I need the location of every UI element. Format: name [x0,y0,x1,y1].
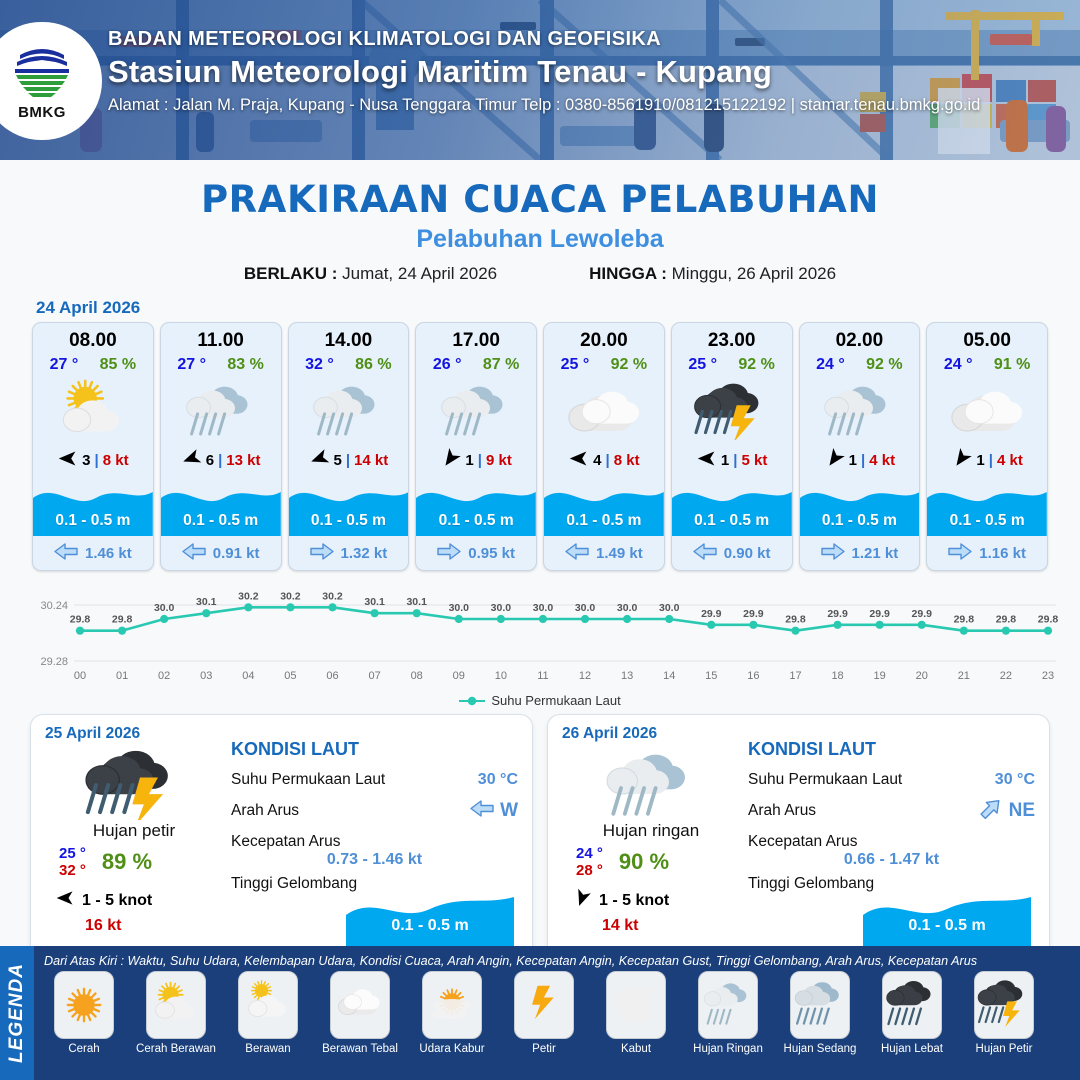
current-speed-value-wrap: 0.73 - 1.46 kt [231,851,518,869]
svg-text:29.8: 29.8 [70,614,91,626]
current-speed-row: Kecepatan Arus 0.66 - 1.47 kt [748,833,1035,869]
sst-row: Suhu Permukaan Laut 30 °C [231,771,518,789]
card-time: 23.00 [672,330,792,352]
daily-left: 26 April 2026 Hujan ringan 24 ° 28 ° 90 … [562,725,740,953]
valid-until-label: HINGGA : [589,264,667,283]
daily-weather-hujan-ringan-icon [562,745,740,819]
svg-text:29.9: 29.9 [912,608,933,620]
card-current-speed: 0.95 kt [468,545,515,562]
wind-direction-arrow-icon [57,448,78,473]
svg-text:30.2: 30.2 [322,590,343,602]
card-wind-separator: | [606,452,610,469]
card-humidity: 85 % [100,356,136,374]
legend-cerah-icon [54,971,114,1039]
sea-conditions-title: KONDISI LAUT [231,739,518,760]
current-direction-label: Arah Arus [231,802,299,820]
legend-item: Cerah [40,971,128,1055]
svg-text:05: 05 [284,670,296,682]
card-wind-separator: | [861,452,865,469]
current-speed-label-wrap: Kecepatan Arus [231,833,518,851]
daily-wind-direction-arrow-icon [572,888,592,913]
legend-item: Kabut [592,971,680,1055]
card-current-speed: 1.32 kt [341,545,388,562]
card-wind-speed: 1 [721,452,729,469]
wind-direction-arrow-icon [696,448,717,473]
current-direction-arrow-icon [54,543,78,564]
svg-text:11: 11 [537,670,548,682]
sst-value: 30 °C [995,771,1035,789]
svg-text:30.0: 30.0 [449,602,470,614]
card-current-row: 1.16 kt [927,543,1047,564]
card-weather-cerah-berawan-icon [33,376,153,442]
daily-wind-direction-arrow-icon [55,888,75,913]
daily-forecast-panels: 25 April 2026 Hujan petir 25 ° 32 ° 89 % [0,708,1080,964]
hourly-card[interactable]: 08.00 27 ° 85 % 3 | 8 kt 0.1 - 0.5 m 1.4… [32,322,154,571]
card-gust: 14 kt [354,452,388,469]
svg-text:02: 02 [158,670,170,682]
hourly-card[interactable]: 17.00 26 ° 87 % 1 | 9 kt 0.1 - 0.5 m [415,322,537,571]
svg-text:30.0: 30.0 [575,602,596,614]
current-speed-value: 0.73 - 1.46 kt [327,851,422,868]
svg-text:29.28: 29.28 [40,656,68,668]
card-time: 08.00 [33,330,153,352]
daily-gust: 16 kt [85,917,223,935]
card-humidity: 92 % [738,356,774,374]
sea-conditions-title: KONDISI LAUT [748,739,1035,760]
card-gust: 13 kt [226,452,260,469]
card-temperature: 25 ° [561,356,590,374]
daily-wave-graphic: 0.1 - 0.5 m [346,889,514,947]
svg-text:14: 14 [663,670,675,682]
legend-item-label: Berawan Tebal [322,1043,398,1055]
card-temperature: 24 ° [816,356,845,374]
daily-sea-conditions: KONDISI LAUT Suhu Permukaan Laut 30 °C A… [740,725,1035,953]
current-direction-arrow-icon [437,543,461,564]
svg-text:23: 23 [1042,670,1054,682]
daily-date: 26 April 2026 [562,725,740,743]
card-wind-row: 1 | 4 kt [800,448,920,473]
daily-date: 25 April 2026 [45,725,223,743]
svg-text:19: 19 [874,670,886,682]
card-wind-separator: | [346,452,350,469]
legend-kabut-icon [606,971,666,1039]
card-gust: 4 kt [869,452,895,469]
wind-direction-arrow-icon [951,448,972,473]
sst-row: Suhu Permukaan Laut 30 °C [748,771,1035,789]
card-temp-hum-row: 27 ° 85 % [33,356,153,374]
wind-direction-arrow-icon [309,448,330,473]
card-weather-hujan-petir-icon [672,376,792,442]
current-speed-value: 0.66 - 1.47 kt [844,851,939,868]
card-wind-speed: 3 [82,452,90,469]
valid-until: HINGGA : Minggu, 26 April 2026 [589,264,836,284]
card-wind-separator: | [733,452,737,469]
wave-height-label: Tinggi Gelombang [231,875,357,892]
daily-gust: 14 kt [602,917,740,935]
card-humidity: 86 % [355,356,391,374]
card-time: 20.00 [544,330,664,352]
daily-temp-col: 25 ° 32 ° [59,845,86,879]
sst-chart: 30.2429.2829.80029.80130.00230.10330.204… [18,583,1062,691]
card-weather-berawan-icon [927,376,1047,442]
legend-hujan-sedang-icon [790,971,850,1039]
card-wave-height: 0.1 - 0.5 m [161,512,281,530]
legend-item: Cerah Berawan [132,971,220,1055]
legend-item: Berawan Tebal [316,971,404,1055]
svg-text:10: 10 [495,670,507,682]
daily-forecast-panel[interactable]: 26 April 2026 Hujan ringan 24 ° 28 ° 90 … [547,714,1050,964]
legend-hujan-ringan-icon [698,971,758,1039]
card-wind-row: 5 | 14 kt [289,448,409,473]
svg-text:22: 22 [1000,670,1012,682]
card-wave-height: 0.1 - 0.5 m [416,512,536,530]
card-temperature: 27 ° [177,356,206,374]
daily-current-direction-arrow-icon [470,800,494,822]
current-speed-label: Kecepatan Arus [748,833,857,850]
sst-label: Suhu Permukaan Laut [231,771,385,789]
card-current-speed: 1.46 kt [85,545,132,562]
current-speed-value-wrap: 0.66 - 1.47 kt [748,851,1035,869]
legend-item: Berawan [224,971,312,1055]
validity-row: BERLAKU : Jumat, 24 April 2026 HINGGA : … [0,264,1080,284]
card-gust: 5 kt [741,452,767,469]
legend-item-label: Hujan Sedang [784,1043,857,1055]
legend-item-label: Hujan Petir [976,1043,1033,1055]
card-wind-separator: | [218,452,222,469]
card-temp-hum-row: 27 ° 83 % [161,356,281,374]
svg-text:12: 12 [579,670,591,682]
daily-wave-height: 0.1 - 0.5 m [863,917,1031,935]
wind-direction-arrow-icon [440,448,461,473]
svg-text:30.0: 30.0 [491,602,512,614]
daily-condition: Hujan petir [45,821,223,841]
svg-text:15: 15 [705,670,717,682]
card-current-row: 1.49 kt [544,543,664,564]
card-current-row: 1.46 kt [33,543,153,564]
wind-direction-arrow-icon [824,448,845,473]
card-weather-berawan-icon [544,376,664,442]
current-speed-label-wrap: Kecepatan Arus [748,833,1035,851]
card-gust: 8 kt [614,452,640,469]
daily-weather-hujan-petir-icon [45,745,223,819]
card-wind-speed: 6 [206,452,214,469]
card-wind-speed: 1 [465,452,473,469]
svg-text:07: 07 [368,670,380,682]
chart-legend: Suhu Permukaan Laut [0,693,1080,708]
legend-item: Hujan Sedang [776,971,864,1055]
svg-text:29.9: 29.9 [869,608,890,620]
legend-item-label: Cerah Berawan [136,1043,216,1055]
daily-wind-row: 1 - 5 knot [572,888,740,913]
card-wind-row: 1 | 9 kt [416,448,536,473]
svg-text:30.1: 30.1 [406,596,427,608]
wave-height-label: Tinggi Gelombang [748,875,874,892]
card-wind-separator: | [478,452,482,469]
daily-humidity: 89 % [102,849,152,875]
card-time: 14.00 [289,330,409,352]
card-humidity: 83 % [227,356,263,374]
card-humidity: 92 % [866,356,902,374]
card-wind-row: 3 | 8 kt [33,448,153,473]
card-current-speed: 1.49 kt [596,545,643,562]
current-direction-arrow-icon [948,543,972,564]
daily-temp-max: 28 ° [576,862,603,879]
card-temperature: 24 ° [944,356,973,374]
card-temp-hum-row: 25 ° 92 % [544,356,664,374]
legend-hujan-lebat-icon [882,971,942,1039]
card-temp-hum-row: 26 ° 87 % [416,356,536,374]
legend-petir-icon [514,971,574,1039]
current-direction-arrow-icon [821,543,845,564]
daily-sea-conditions: KONDISI LAUT Suhu Permukaan Laut 30 °C A… [223,725,518,953]
daily-temp-col: 24 ° 28 ° [576,845,603,879]
svg-text:29.8: 29.8 [996,614,1017,626]
legend-side-title: LEGENDA [0,946,34,1080]
card-wave-height: 0.1 - 0.5 m [927,512,1047,530]
legend-udara-kabur-icon [422,971,482,1039]
legend-hujan-petir-icon [974,971,1034,1039]
daily-wave-graphic: 0.1 - 0.5 m [863,889,1031,947]
svg-text:08: 08 [411,670,423,682]
card-temp-hum-row: 25 ° 92 % [672,356,792,374]
station-name: Stasiun Meteorologi Maritim Tenau - Kupa… [108,54,980,90]
sst-label: Suhu Permukaan Laut [748,771,902,789]
current-direction-value: W [500,800,518,822]
page-header: BMKG BADAN METEOROLOGI KLIMATOLOGI DAN G… [0,0,1080,160]
daily-wind-range: 1 - 5 knot [82,892,152,910]
hourly-card[interactable]: 05.00 24 ° 91 % 1 | 4 kt 0.1 - 0.5 m [926,322,1048,571]
svg-text:00: 00 [74,670,86,682]
hourly-forecast-cards: 08.00 27 ° 85 % 3 | 8 kt 0.1 - 0.5 m 1.4… [0,322,1080,571]
current-speed-label: Kecepatan Arus [231,833,340,850]
card-humidity: 92 % [611,356,647,374]
card-wind-row: 4 | 8 kt [544,448,664,473]
legend-cerah-berawan-icon [146,971,206,1039]
bmkg-logo-label: BMKG [18,104,66,121]
card-time: 05.00 [927,330,1047,352]
hourly-card[interactable]: 20.00 25 ° 92 % 4 | 8 kt 0.1 - 0.5 m [543,322,665,571]
station-address: Alamat : Jalan M. Praja, Kupang - Nusa T… [108,96,980,115]
hourly-card[interactable]: 02.00 24 ° 92 % 1 | 4 kt 0.1 - 0.5 m [799,322,921,571]
card-current-row: 1.21 kt [800,543,920,564]
legend-item-label: Hujan Lebat [881,1043,943,1055]
card-current-speed: 1.21 kt [852,545,899,562]
legend-caption: Dari Atas Kiri : Waktu, Suhu Udara, Kele… [40,950,1074,971]
legend-body: Dari Atas Kiri : Waktu, Suhu Udara, Kele… [34,946,1080,1080]
card-wind-row: 1 | 4 kt [927,448,1047,473]
svg-text:13: 13 [621,670,633,682]
valid-from-label: BERLAKU : [244,264,338,283]
card-wind-row: 1 | 5 kt [672,448,792,473]
card-current-speed: 0.91 kt [213,545,260,562]
chart-legend-label: Suhu Permukaan Laut [491,693,620,708]
legend-item-label: Cerah [68,1043,99,1055]
card-wave-height: 0.1 - 0.5 m [672,512,792,530]
daily-temp-min: 25 ° [59,845,86,862]
svg-text:16: 16 [747,670,759,682]
svg-text:30.0: 30.0 [154,602,175,614]
card-temperature: 32 ° [305,356,334,374]
sst-value: 30 °C [478,771,518,789]
svg-text:30.0: 30.0 [617,602,638,614]
hourly-date-label: 24 April 2026 [36,298,1080,318]
card-wave-height: 0.1 - 0.5 m [800,512,920,530]
card-weather-hujan-ringan-icon [800,376,920,442]
hourly-card[interactable]: 23.00 25 ° 92 % 1 | 5 kt 0.1 - 0.5 m [671,322,793,571]
card-wind-row: 6 | 13 kt [161,448,281,473]
svg-text:29.8: 29.8 [112,614,133,626]
svg-text:29.8: 29.8 [785,614,806,626]
current-direction-value: NE [1009,800,1035,822]
svg-text:30.0: 30.0 [659,602,680,614]
card-wind-separator: | [989,452,993,469]
card-weather-hujan-ringan-icon [289,376,409,442]
page-title: PRAKIRAAN CUACA PELABUHAN [0,178,1080,221]
svg-text:29.9: 29.9 [701,608,722,620]
legend-item: Hujan Ringan [684,971,772,1055]
legend-item-label: Berawan [245,1043,290,1055]
svg-text:30.0: 30.0 [533,602,554,614]
daily-condition: Hujan ringan [562,821,740,841]
svg-text:29.9: 29.9 [827,608,848,620]
legend-side-title-text: LEGENDA [6,963,28,1063]
current-direction-arrow-icon [310,543,334,564]
card-gust: 4 kt [997,452,1023,469]
svg-text:09: 09 [453,670,465,682]
hourly-card[interactable]: 11.00 27 ° 83 % 6 | 13 kt 0.1 - 0.5 m [160,322,282,571]
daily-humidity: 90 % [619,849,669,875]
svg-text:30.1: 30.1 [364,596,385,608]
svg-text:17: 17 [789,670,801,682]
svg-text:30.24: 30.24 [40,600,68,612]
card-time: 17.00 [416,330,536,352]
current-direction-value-group: W [470,800,518,822]
card-temp-hum-row: 24 ° 92 % [800,356,920,374]
card-wave-height: 0.1 - 0.5 m [33,512,153,530]
card-wind-speed: 4 [593,452,601,469]
card-time: 02.00 [800,330,920,352]
valid-from: BERLAKU : Jumat, 24 April 2026 [244,264,497,284]
current-direction-arrow-icon [693,543,717,564]
card-wind-speed: 1 [849,452,857,469]
valid-from-value: Jumat, 24 April 2026 [342,264,497,283]
legend-item-label: Udara Kabur [419,1043,484,1055]
hourly-card[interactable]: 14.00 32 ° 86 % 5 | 14 kt 0.1 - 0.5 m [288,322,410,571]
card-temperature: 25 ° [688,356,717,374]
port-name: Pelabuhan Lewoleba [0,225,1080,254]
chart-legend-marker-icon [459,696,485,706]
current-direction-row: Arah Arus W [231,800,518,822]
card-temp-hum-row: 32 ° 86 % [289,356,409,374]
current-direction-row: Arah Arus NE [748,800,1035,822]
wind-direction-arrow-icon [568,448,589,473]
current-direction-arrow-icon [182,543,206,564]
legend-item: Hujan Petir [960,971,1048,1055]
svg-text:04: 04 [242,670,254,682]
current-speed-row: Kecepatan Arus 0.73 - 1.46 kt [231,833,518,869]
legend-item: Udara Kabur [408,971,496,1055]
card-temp-hum-row: 24 ° 91 % [927,356,1047,374]
card-wave-height: 0.1 - 0.5 m [544,512,664,530]
valid-until-value: Minggu, 26 April 2026 [672,264,836,283]
daily-temp-row: 24 ° 28 ° 90 % [576,845,740,879]
card-time: 11.00 [161,330,281,352]
card-humidity: 91 % [994,356,1030,374]
daily-wind-row: 1 - 5 knot [55,888,223,913]
current-direction-arrow-icon [565,543,589,564]
current-direction-label: Arah Arus [748,802,816,820]
svg-text:29.8: 29.8 [954,614,975,626]
card-current-row: 0.95 kt [416,543,536,564]
card-temperature: 27 ° [50,356,79,374]
title-section: PRAKIRAAN CUACA PELABUHAN Pelabuhan Lewo… [0,178,1080,284]
svg-text:30.1: 30.1 [196,596,217,608]
daily-temp-min: 24 ° [576,845,603,862]
agency-name: BADAN METEOROLOGI KLIMATOLOGI DAN GEOFIS… [108,28,980,51]
card-temperature: 26 ° [433,356,462,374]
daily-left: 25 April 2026 Hujan petir 25 ° 32 ° 89 % [45,725,223,953]
card-current-speed: 0.90 kt [724,545,771,562]
daily-current-direction-arrow-icon [979,800,1003,822]
card-current-row: 0.91 kt [161,543,281,564]
legend-berawan-sun-icon [238,971,298,1039]
daily-temp-row: 25 ° 32 ° 89 % [59,845,223,879]
svg-text:21: 21 [958,670,970,682]
legend-item: Petir [500,971,588,1055]
card-current-speed: 1.16 kt [979,545,1026,562]
legend-berawan-tebal-icon [330,971,390,1039]
daily-forecast-panel[interactable]: 25 April 2026 Hujan petir 25 ° 32 ° 89 % [30,714,533,964]
card-weather-hujan-ringan-icon [416,376,536,442]
card-gust: 8 kt [103,452,129,469]
legend-bar: LEGENDA Dari Atas Kiri : Waktu, Suhu Uda… [0,946,1080,1080]
card-gust: 9 kt [486,452,512,469]
card-current-row: 0.90 kt [672,543,792,564]
daily-wind-range: 1 - 5 knot [599,892,669,910]
daily-wave-height: 0.1 - 0.5 m [346,917,514,935]
legend-item-label: Hujan Ringan [693,1043,763,1055]
daily-temp-max: 32 ° [59,862,86,879]
svg-text:03: 03 [200,670,212,682]
wind-direction-arrow-icon [181,448,202,473]
card-weather-hujan-ringan-icon [161,376,281,442]
card-current-row: 1.32 kt [289,543,409,564]
svg-text:01: 01 [116,670,128,682]
header-text-block: BADAN METEOROLOGI KLIMATOLOGI DAN GEOFIS… [108,28,980,115]
card-wind-speed: 5 [334,452,342,469]
svg-text:30.2: 30.2 [280,590,301,602]
card-wind-speed: 1 [976,452,984,469]
current-direction-value-group: NE [979,800,1035,822]
card-wind-separator: | [95,452,99,469]
legend-items: Cerah Cerah Berawan Berawan Berawan Teba… [40,971,1074,1055]
svg-text:18: 18 [831,670,843,682]
card-humidity: 87 % [483,356,519,374]
sst-chart-svg: 30.2429.2829.80029.80130.00230.10330.204… [18,583,1062,691]
svg-text:30.2: 30.2 [238,590,259,602]
svg-text:20: 20 [916,670,928,682]
legend-item-label: Petir [532,1043,556,1055]
svg-text:29.8: 29.8 [1038,614,1059,626]
svg-text:29.9: 29.9 [743,608,764,620]
legend-item-label: Kabut [621,1043,651,1055]
card-wave-height: 0.1 - 0.5 m [289,512,409,530]
legend-item: Hujan Lebat [868,971,956,1055]
svg-text:06: 06 [326,670,338,682]
bmkg-logo-icon [9,41,75,103]
